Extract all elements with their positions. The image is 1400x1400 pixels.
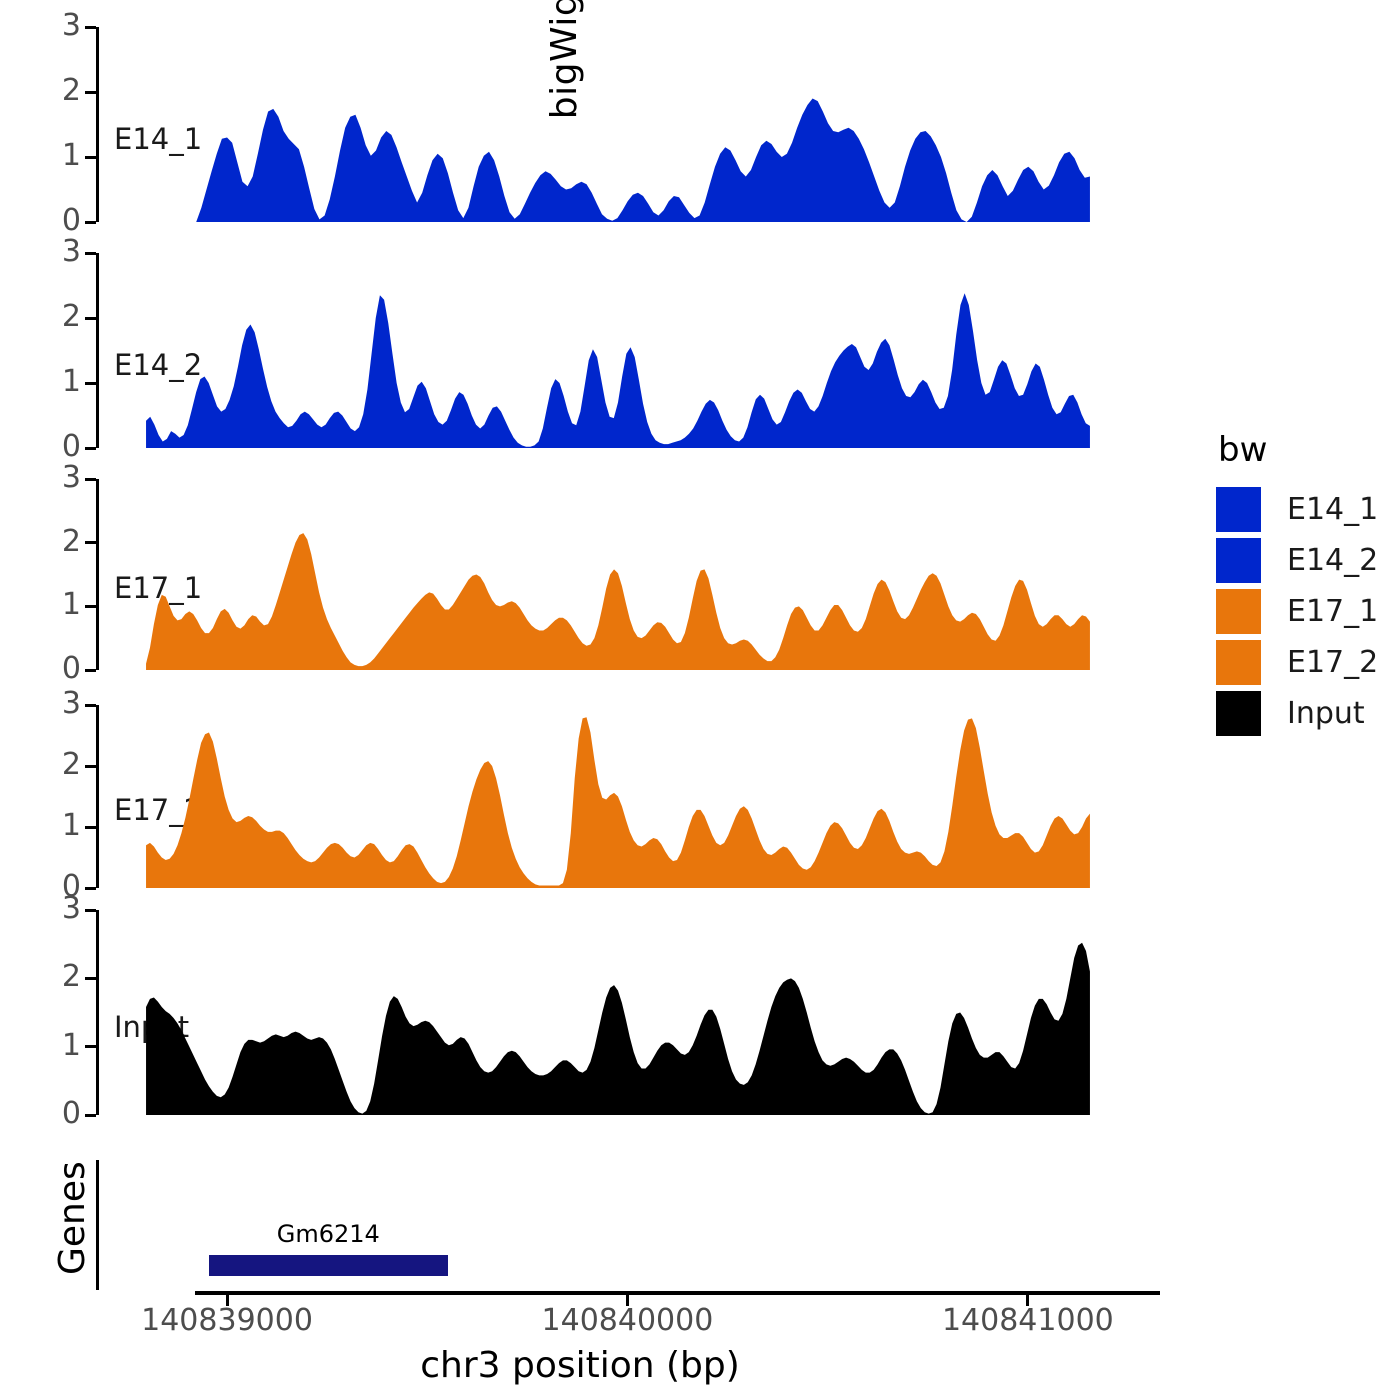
y-tick-mark — [85, 887, 96, 890]
legend-color-swatch — [1216, 589, 1261, 634]
legend-label: E17_1 — [1287, 594, 1378, 629]
legend: bw E14_1E14_2E17_1E17_2Input — [1216, 430, 1378, 739]
legend-label: E17_2 — [1287, 645, 1378, 680]
track-panel-e17_2: 3210E17_2 — [96, 705, 1126, 888]
genes-axis-title: Genes — [52, 1161, 93, 1275]
y-tick-mark — [85, 704, 96, 707]
y-tick-mark — [85, 1045, 96, 1048]
y-tick-label: 1 — [6, 141, 81, 171]
x-axis-line — [195, 1291, 1160, 1295]
track-panel-input: 3210Input — [96, 910, 1126, 1115]
y-tick-label: 3 — [6, 237, 81, 267]
y-tick-label: 1 — [6, 1031, 81, 1061]
track-panel-e14_1: 3210E14_1 — [96, 27, 1126, 222]
x-axis-title: chr3 position (bp) — [0, 1345, 1160, 1386]
legend-title: bw — [1218, 430, 1378, 470]
y-tick-mark — [85, 447, 96, 450]
legend-color-swatch — [1216, 487, 1261, 532]
y-tick-mark — [85, 221, 96, 224]
legend-item-e17_2[interactable]: E17_2 — [1216, 637, 1378, 688]
y-tick-label: 0 — [6, 206, 81, 236]
x-tick-label: 140840000 — [542, 1303, 714, 1338]
y-tick-mark — [85, 1114, 96, 1117]
y-tick-label: 2 — [6, 750, 81, 780]
y-tick-label: 3 — [6, 689, 81, 719]
genes-panel-axis-line — [96, 1160, 99, 1290]
y-tick-mark — [85, 156, 96, 159]
legend-item-e14_1[interactable]: E14_1 — [1216, 484, 1378, 535]
track-area-input — [99, 910, 1126, 1115]
legend-label: E14_2 — [1287, 543, 1378, 578]
y-tick-mark — [85, 605, 96, 608]
legend-color-swatch — [1216, 640, 1261, 685]
track-area-e17_1 — [99, 479, 1126, 670]
y-tick-label: 2 — [6, 962, 81, 992]
y-tick-label: 0 — [6, 654, 81, 684]
y-tick-label: 2 — [6, 527, 81, 557]
y-tick-mark — [85, 91, 96, 94]
y-tick-mark — [85, 669, 96, 672]
y-tick-mark — [85, 541, 96, 544]
y-tick-mark — [85, 909, 96, 912]
legend-label: Input — [1287, 696, 1365, 731]
legend-label: E14_1 — [1287, 492, 1378, 527]
legend-item-e14_2[interactable]: E14_2 — [1216, 535, 1378, 586]
y-tick-label: 1 — [6, 367, 81, 397]
y-tick-label: 2 — [6, 76, 81, 106]
track-area-e17_2 — [99, 705, 1126, 888]
legend-item-input[interactable]: Input — [1216, 688, 1378, 739]
x-tick-label: 140839000 — [141, 1303, 313, 1338]
y-tick-label: 2 — [6, 302, 81, 332]
y-tick-label: 1 — [6, 811, 81, 841]
x-tick-label: 140841000 — [942, 1303, 1114, 1338]
y-tick-mark — [85, 977, 96, 980]
y-tick-mark — [85, 826, 96, 829]
y-tick-label: 3 — [6, 11, 81, 41]
y-tick-mark — [85, 317, 96, 320]
y-tick-mark — [85, 382, 96, 385]
genes-panel: Gm6214 — [96, 1160, 1126, 1290]
gene-label: Gm6214 — [209, 1220, 448, 1248]
track-panel-e14_2: 3210E14_2 — [96, 253, 1126, 448]
track-area-e14_2 — [99, 253, 1126, 448]
y-tick-label: 3 — [6, 463, 81, 493]
track-area-e14_1 — [99, 27, 1126, 222]
y-tick-mark — [85, 478, 96, 481]
y-tick-mark — [85, 26, 96, 29]
y-tick-label: 0 — [6, 432, 81, 462]
y-tick-label: 0 — [6, 1099, 81, 1129]
legend-items: E14_1E14_2E17_1E17_2Input — [1216, 484, 1378, 739]
y-tick-label: 3 — [6, 894, 81, 924]
legend-color-swatch — [1216, 691, 1261, 736]
y-tick-mark — [85, 765, 96, 768]
legend-color-swatch — [1216, 538, 1261, 583]
y-tick-mark — [85, 252, 96, 255]
legend-item-e17_1[interactable]: E17_1 — [1216, 586, 1378, 637]
gene-bar[interactable] — [209, 1255, 448, 1276]
track-panel-e17_1: 3210E17_1 — [96, 479, 1126, 670]
y-tick-label: 1 — [6, 590, 81, 620]
